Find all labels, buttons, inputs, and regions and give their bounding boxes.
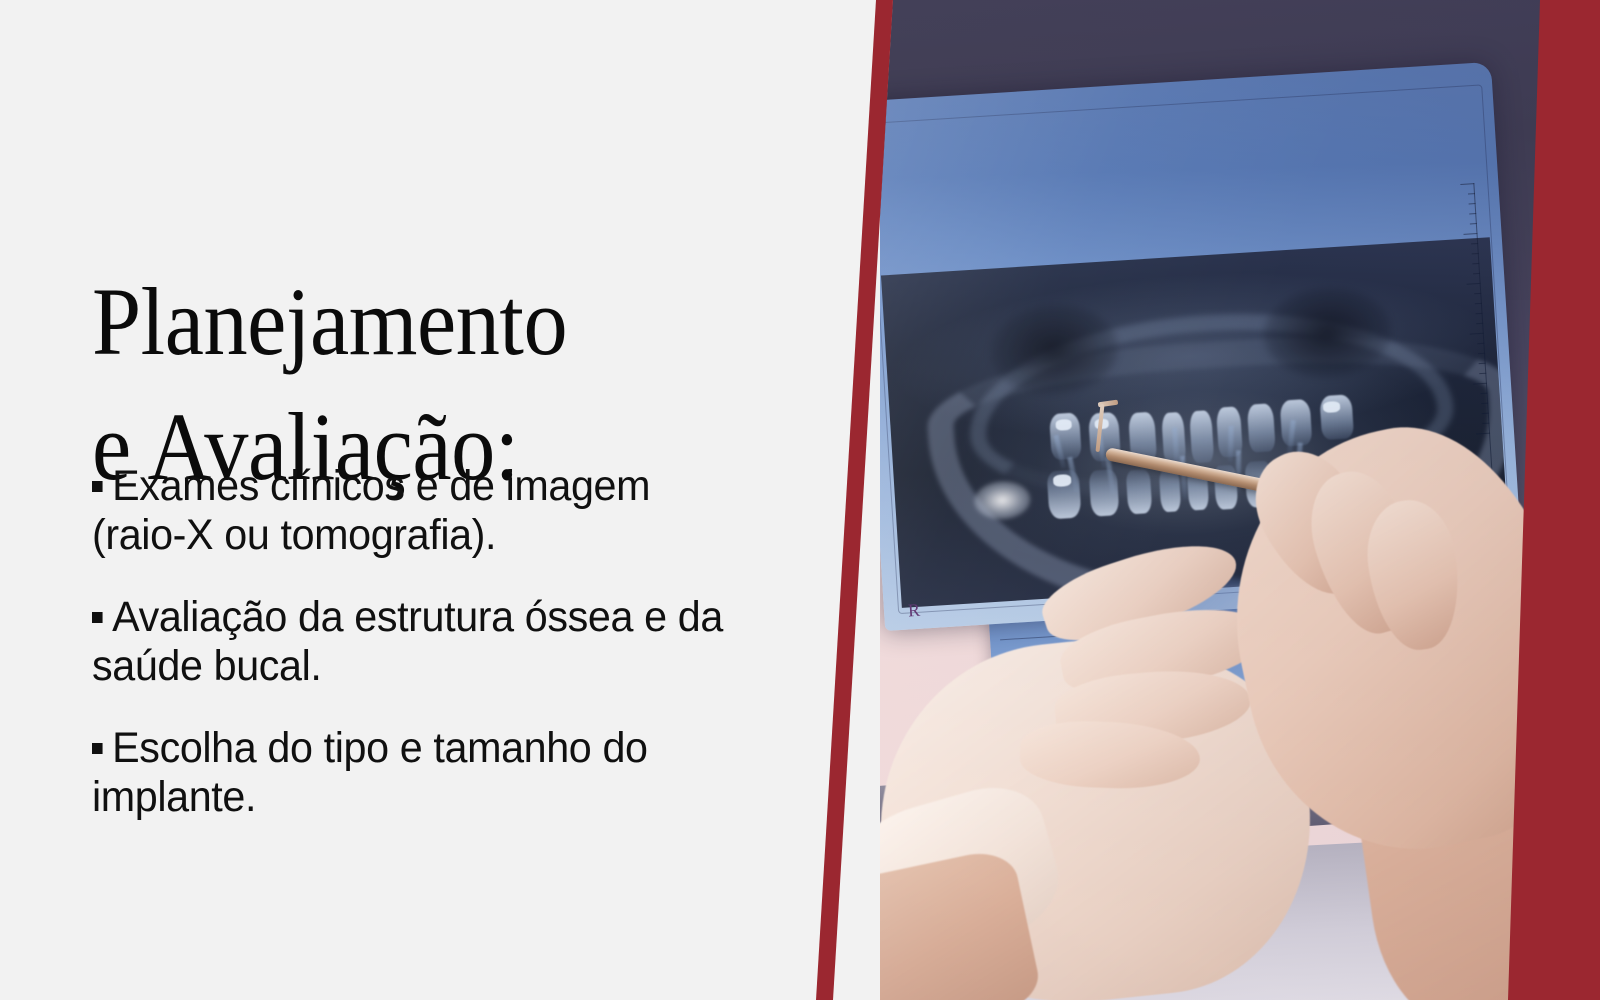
list-item-text: Escolha do tipo e tamanho do implante. — [92, 724, 648, 821]
list-item-text: Exames clínicos e de imagem (raio-X ou t… — [92, 462, 650, 559]
tooth — [1089, 469, 1120, 517]
tooth — [1280, 399, 1313, 447]
text-panel: Planejamento e Avaliação: Exames clínico… — [0, 0, 880, 1000]
square-bullet-icon — [92, 743, 103, 754]
tooth — [1189, 410, 1214, 463]
square-bullet-icon — [92, 481, 103, 492]
tooth — [1159, 469, 1182, 512]
dental-restoration — [1055, 419, 1072, 431]
tooth-root — [1227, 426, 1233, 462]
list-item-text: Avaliação da estrutura óssea e da saúde … — [92, 593, 723, 690]
slide-root: R Planejamento e Avaliação: Exame — [0, 0, 1600, 1000]
bullet-list: Exames clínicos e de imagem (raio-X ou t… — [92, 462, 782, 823]
tooth — [1125, 469, 1152, 514]
film-orientation-marker: R — [907, 600, 921, 622]
dental-restoration — [1052, 474, 1071, 487]
list-item: Escolha do tipo e tamanho do implante. — [92, 724, 754, 823]
list-item: Avaliação da estrutura óssea e da saúde … — [92, 593, 754, 692]
tooth — [1247, 403, 1276, 453]
square-bullet-icon — [92, 612, 103, 623]
list-item: Exames clínicos e de imagem (raio-X ou t… — [92, 462, 754, 561]
